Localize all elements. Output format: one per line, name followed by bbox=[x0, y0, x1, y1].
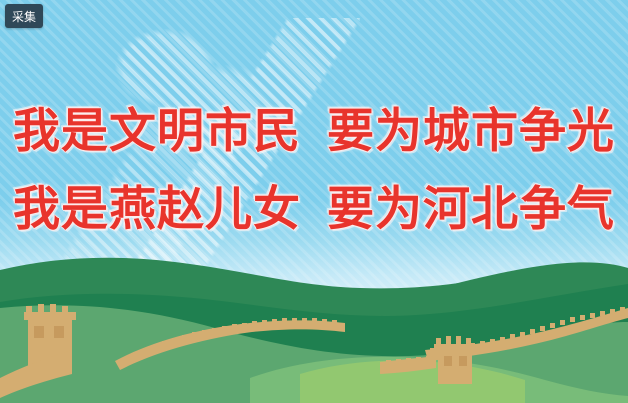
collect-button-label: 采集 bbox=[12, 8, 36, 25]
slogan-line-2-left: 我是燕赵儿女 bbox=[13, 171, 301, 249]
poster-screen: 我是文明市民 要为城市争光 我是燕赵儿女 要为河北争气 采集 bbox=[0, 0, 628, 403]
slogan-line-2: 我是燕赵儿女 要为河北争气 bbox=[0, 171, 628, 249]
slogan-line-1-left: 我是文明市民 bbox=[13, 93, 301, 171]
slogan-block: 我是文明市民 要为城市争光 我是燕赵儿女 要为河北争气 bbox=[0, 93, 628, 249]
landscape-illustration bbox=[0, 228, 628, 403]
slogan-line-1: 我是文明市民 要为城市争光 bbox=[0, 93, 628, 171]
slogan-line-1-right: 要为城市争光 bbox=[327, 93, 615, 171]
collect-button[interactable]: 采集 bbox=[5, 4, 43, 28]
slogan-line-2-right: 要为河北争气 bbox=[327, 171, 615, 249]
